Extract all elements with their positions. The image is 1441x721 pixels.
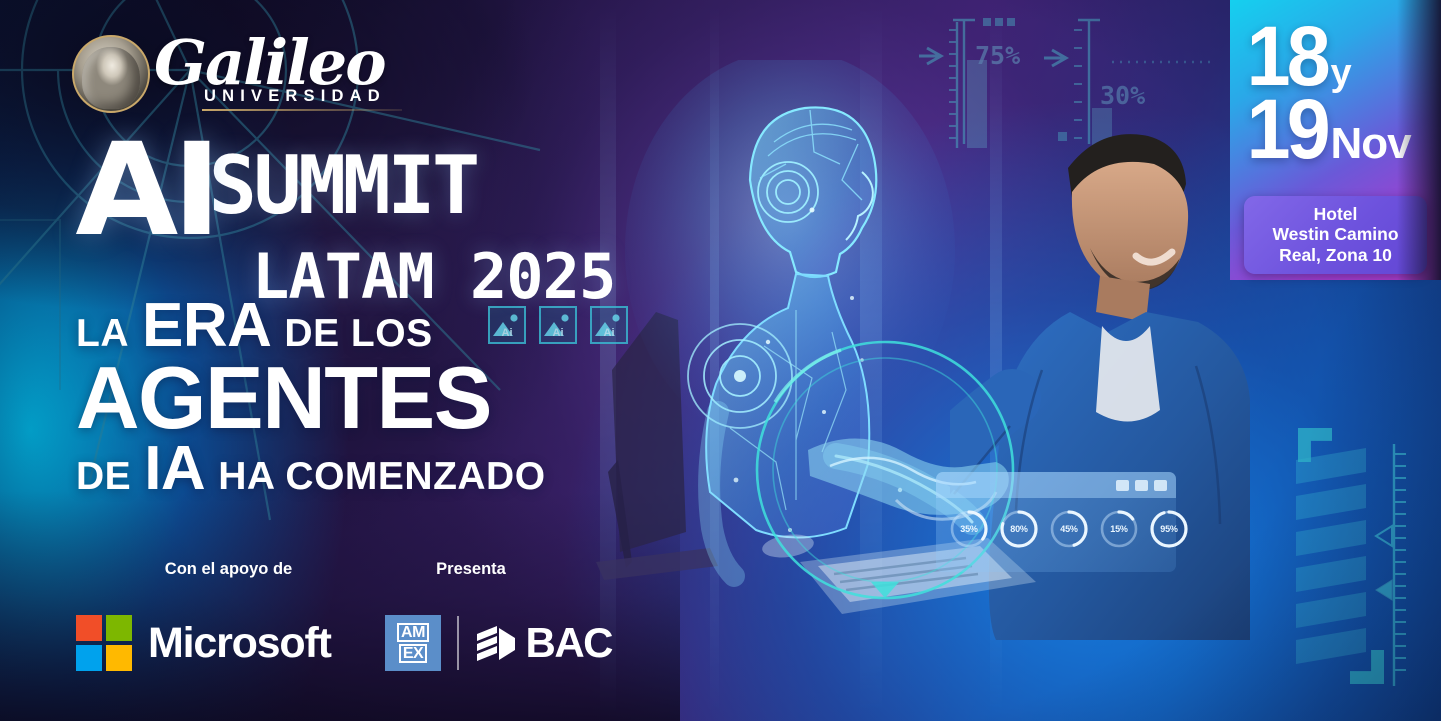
sponsors-section: Con el apoyo de Presenta Microsoft AM EX [76, 560, 636, 671]
bac-logo[interactable]: BAC [475, 619, 613, 667]
bac-chevron-icon [475, 624, 517, 662]
tagline-line-3: DE IA HA COMENZADO [76, 439, 546, 500]
microsoft-logo[interactable]: Microsoft [76, 615, 381, 671]
date-conjunction: y [1330, 52, 1351, 95]
galileo-subtitle: UNIVERSIDAD [154, 87, 402, 106]
date-day-19: 19 [1247, 95, 1327, 164]
mini-gauge: 15% [1098, 508, 1140, 550]
mini-gauge-row: 35% 80% 45% 15 [948, 508, 1190, 550]
mini-gauge-label: 35% [948, 508, 990, 550]
svg-text:Ai: Ai [604, 327, 615, 339]
mini-gauge-label: 45% [1048, 508, 1090, 550]
support-label: Con el apoyo de [76, 560, 381, 579]
mini-gauge-label: 15% [1098, 508, 1140, 550]
panel-titlebar [936, 472, 1176, 498]
svg-text:Ai: Ai [553, 327, 564, 339]
date-day-18: 18 [1247, 22, 1327, 91]
event-dates: 18 y 19 Nov [1244, 22, 1411, 169]
venue-line-1: Hotel [1250, 204, 1421, 224]
mini-gauge-label: 80% [998, 508, 1040, 550]
amex-logo[interactable]: AM EX [385, 615, 441, 671]
title-ai: AI [75, 136, 215, 246]
galileo-bust-icon [72, 35, 150, 113]
galileo-universidad-logo[interactable]: Galileo UNIVERSIDAD [72, 34, 402, 113]
mini-gauge: 95% [1148, 508, 1190, 550]
microsoft-squares-icon [76, 615, 132, 671]
amex-top-text: AM [397, 623, 429, 642]
title-summit: SUMMIT [209, 146, 477, 226]
event-title: AI SUMMIT LATAM 2025 [78, 136, 615, 313]
event-tagline: LA ERA DE LOS AGENTES DE IA HA COMENZADO [76, 296, 546, 500]
tagline-de: DE [76, 458, 131, 496]
galileo-wordmark: Galileo [154, 34, 402, 91]
tagline-ia: IA [144, 439, 205, 500]
galileo-rule [202, 109, 402, 111]
microsoft-wordmark: Microsoft [148, 619, 331, 668]
hud-dashboard-panel: 35% 80% 45% 15 [936, 472, 1176, 572]
panel-window-dots [1116, 480, 1167, 491]
mini-gauge: 45% [1048, 508, 1090, 550]
mini-gauge: 80% [998, 508, 1040, 550]
event-banner: 75% 30% [0, 0, 1441, 721]
amex-bottom-text: EX [399, 644, 427, 663]
mini-gauge: 35% [948, 508, 990, 550]
presents-label: Presenta [381, 560, 561, 579]
date-month: Nov [1330, 119, 1410, 169]
bac-wordmark: BAC [526, 619, 613, 667]
venue-line-3: Real, Zona 10 [1250, 245, 1421, 265]
venue-line-2: Westin Camino [1250, 224, 1421, 244]
venue-badge: Hotel Westin Camino Real, Zona 10 [1244, 196, 1427, 274]
sponsor-divider [457, 616, 459, 670]
event-date-panel: 18 y 19 Nov Hotel Westin Camino Real, Zo… [1230, 0, 1441, 280]
tagline-ha-comenzado: HA COMENZADO [218, 458, 545, 496]
tagline-line-2: AGENTES [76, 357, 546, 440]
mini-gauge-label: 95% [1148, 508, 1190, 550]
tagline-agentes: AGENTES [76, 357, 491, 440]
